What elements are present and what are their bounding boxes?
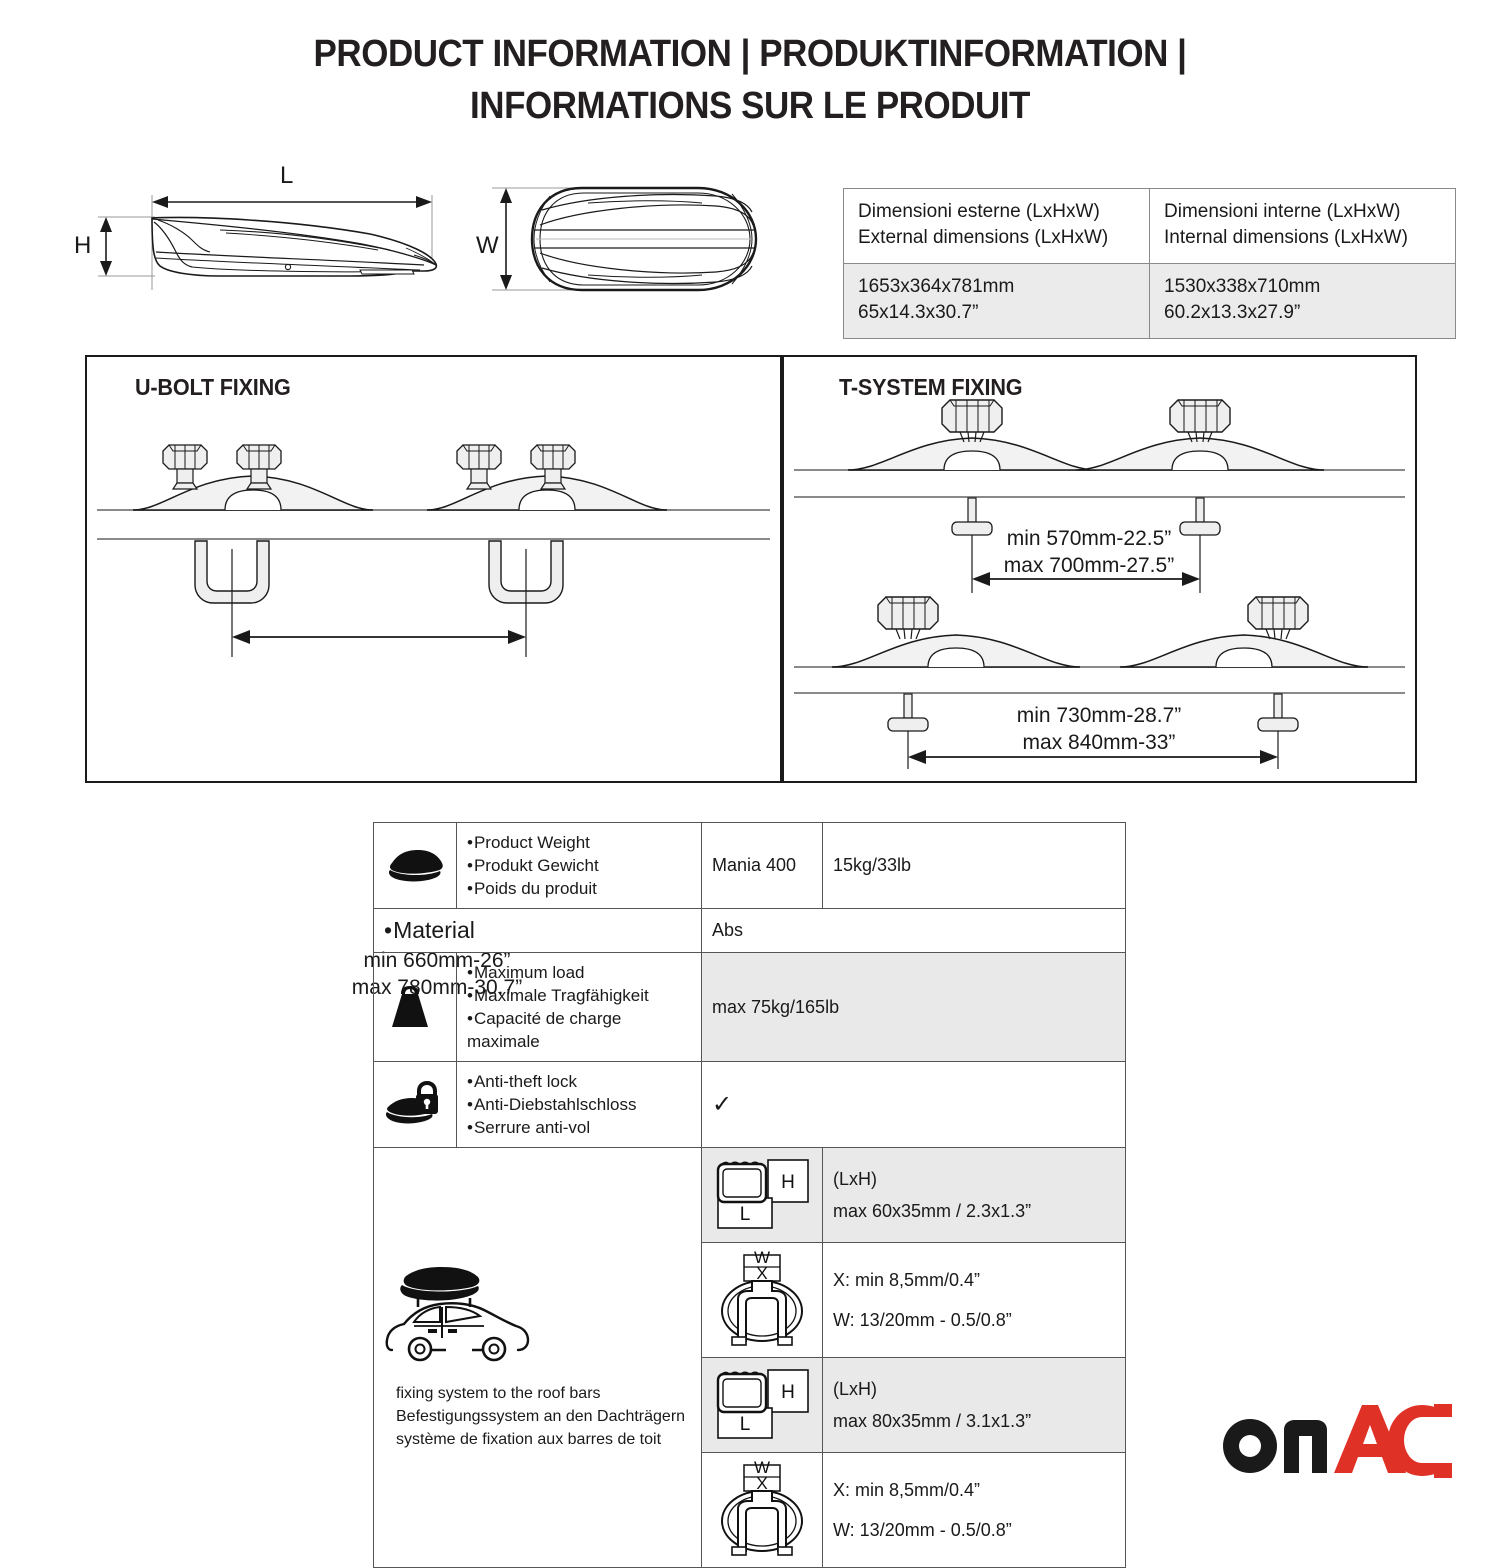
- bar-spec-4-line2: W: 13/20mm - 0.5/0.8”: [833, 1510, 1115, 1550]
- cargo-box-icon: [384, 846, 446, 886]
- material-label: Material: [374, 909, 702, 953]
- spec-row-material: Material Abs: [374, 909, 1126, 953]
- cargo-box-icon-cell: [374, 823, 457, 909]
- bar-spec-3-line2: max 80x35mm / 3.1x1.3”: [833, 1405, 1115, 1437]
- tsystem-lower-max: max 840mm-33”: [929, 729, 1269, 756]
- cargo-box-top-view: W: [470, 170, 800, 320]
- product-weight-value: 15kg/33lb: [823, 823, 1126, 909]
- length-label: L: [280, 162, 293, 190]
- bar-spec-1-line2: max 60x35mm / 2.3x1.3”: [833, 1195, 1115, 1227]
- tsystem-upper-min: min 570mm-22.5”: [924, 525, 1254, 552]
- internal-dimensions-mm: 1530x338x710mm: [1164, 274, 1441, 300]
- page-title-line-1: PRODUCT INFORMATION | PRODUKTINFORMATION…: [60, 28, 1440, 80]
- anti-theft-label-en: Anti-theft lock: [467, 1070, 691, 1093]
- clamp-icon: W X: [712, 1251, 812, 1349]
- fixing-system-caption: fixing system to the roof bars Befestigu…: [384, 1374, 691, 1451]
- max-load-label-en: Maximum load: [467, 961, 691, 984]
- ubolt-panel-title: U-BOLT FIXING: [135, 374, 291, 401]
- external-dimensions-in: 65x14.3x30.7”: [858, 300, 1135, 326]
- cargo-box-side-view: L H: [80, 170, 460, 320]
- product-weight-label-en: Product Weight: [467, 831, 691, 854]
- svg-text:H: H: [781, 1172, 795, 1193]
- internal-dimensions-in: 60.2x13.3x27.9”: [1164, 300, 1441, 326]
- bar-spec-4-line1: X: min 8,5mm/0.4”: [833, 1470, 1115, 1510]
- fixing-caption-de: Befestigungssystem an den Dachträgern: [396, 1405, 691, 1428]
- external-dimensions-value: 1653x364x781mm 65x14.3x30.7”: [844, 264, 1150, 339]
- dimensions-value-row: 1653x364x781mm 65x14.3x30.7” 1530x338x71…: [844, 264, 1456, 339]
- product-views: L H: [80, 170, 800, 330]
- bar-spec-3-line1: (LxH): [833, 1373, 1115, 1405]
- dimensions-table: Dimensioni esterne (LxHxW) External dime…: [843, 188, 1456, 339]
- tsystem-upper-max: max 700mm-27.5”: [924, 552, 1254, 579]
- external-dimensions-it: Dimensioni esterne (LxHxW): [858, 199, 1135, 225]
- internal-dimensions-en: Internal dimensions (LxHxW): [1164, 225, 1441, 251]
- product-weight-labels: Product Weight Produkt Gewicht Poids du …: [457, 823, 702, 909]
- external-dimensions-mm: 1653x364x781mm: [858, 274, 1135, 300]
- bar-profile-icon-cell-1: H L: [702, 1148, 823, 1243]
- bar-spec-2-line1: X: min 8,5mm/0.4”: [833, 1260, 1115, 1300]
- page-title-line-2: INFORMATIONS SUR LE PRODUIT: [60, 80, 1440, 132]
- anti-theft-lock-labels: Anti-theft lock Anti-Diebstahlschloss Se…: [457, 1062, 702, 1148]
- internal-dimensions-value: 1530x338x710mm 60.2x13.3x27.9”: [1150, 264, 1456, 339]
- clamp-icon: W X: [712, 1461, 812, 1559]
- spec-row-product-weight: Product Weight Produkt Gewicht Poids du …: [374, 823, 1126, 909]
- fixing-system-cell: fixing system to the roof bars Befestigu…: [374, 1148, 702, 1568]
- tsystem-panel-title: T-SYSTEM FIXING: [839, 374, 1022, 401]
- clamp-icon-cell-1: W X: [702, 1243, 823, 1358]
- external-dimensions-en: External dimensions (LxHxW): [858, 225, 1135, 251]
- dimensions-header-row: Dimensioni esterne (LxHxW) External dime…: [844, 189, 1456, 264]
- tsystem-fixing-panel: T-SYSTEM FIXING: [782, 355, 1417, 783]
- bar-spec-text-1: (LxH) max 60x35mm / 2.3x1.3”: [823, 1148, 1126, 1243]
- page-title: PRODUCT INFORMATION | PRODUKTINFORMATION…: [0, 28, 1500, 132]
- clamp-icon-cell-2: W X: [702, 1453, 823, 1568]
- svg-text:L: L: [740, 1204, 751, 1225]
- omac-logo: [1216, 1400, 1454, 1478]
- bar-spec-2-line2: W: 13/20mm - 0.5/0.8”: [833, 1300, 1115, 1340]
- bar-spec-text-3: (LxH) max 80x35mm / 3.1x1.3”: [823, 1358, 1126, 1453]
- bar-profile-icon-cell-2: H L: [702, 1358, 823, 1453]
- lock-icon-cell: [374, 1062, 457, 1148]
- tsystem-lower-caption: min 730mm-28.7” max 840mm-33”: [929, 702, 1269, 756]
- svg-text:H: H: [781, 1382, 795, 1403]
- material-value: Abs: [702, 909, 1126, 953]
- internal-dimensions-it: Dimensioni interne (LxHxW): [1164, 199, 1441, 225]
- ubolt-diagram: [87, 357, 780, 781]
- product-weight-label-de: Produkt Gewicht: [467, 854, 691, 877]
- lock-icon: [384, 1081, 446, 1129]
- spec-row-anti-theft-lock: Anti-theft lock Anti-Diebstahlschloss Se…: [374, 1062, 1126, 1148]
- internal-dimensions-header: Dimensioni interne (LxHxW) Internal dime…: [1150, 189, 1456, 264]
- anti-theft-label-de: Anti-Diebstahlschloss: [467, 1093, 691, 1116]
- specifications-table: Product Weight Produkt Gewicht Poids du …: [373, 822, 1126, 1568]
- max-load-labels: Maximum load Maximale Tragfähigkeit Capa…: [457, 953, 702, 1062]
- height-label: H: [74, 232, 91, 260]
- bar-spec-text-2: X: min 8,5mm/0.4” W: 13/20mm - 0.5/0.8”: [823, 1243, 1126, 1358]
- bar-profile-icon: H L: [712, 1156, 812, 1234]
- spec-row-fixing-1: fixing system to the roof bars Befestigu…: [374, 1148, 1126, 1243]
- weight-icon: [384, 983, 436, 1031]
- anti-theft-label-fr: Serrure anti-vol: [467, 1116, 691, 1139]
- weight-icon-cell: [374, 953, 457, 1062]
- product-weight-label-fr: Poids du produit: [467, 877, 691, 900]
- tsystem-upper-caption: min 570mm-22.5” max 700mm-27.5”: [924, 525, 1254, 579]
- max-load-label-de: Maximale Tragfähigkeit: [467, 984, 691, 1007]
- svg-text:L: L: [740, 1414, 751, 1435]
- bar-spec-1-line1: (LxH): [833, 1163, 1115, 1195]
- max-load-label-fr: Capacité de charge maximale: [467, 1007, 691, 1053]
- product-model-value: Mania 400: [702, 823, 823, 909]
- bar-spec-text-4: X: min 8,5mm/0.4” W: 13/20mm - 0.5/0.8”: [823, 1453, 1126, 1568]
- max-load-value: max 75kg/165lb: [702, 953, 1126, 1062]
- car-with-box-icon: [384, 1264, 534, 1374]
- width-label: W: [476, 232, 499, 260]
- external-dimensions-header: Dimensioni esterne (LxHxW) External dime…: [844, 189, 1150, 264]
- spec-row-max-load: Maximum load Maximale Tragfähigkeit Capa…: [374, 953, 1126, 1062]
- fixing-caption-fr: système de fixation aux barres de toit: [396, 1428, 691, 1451]
- anti-theft-check: ✓: [702, 1062, 1126, 1148]
- ubolt-fixing-panel: U-BOLT FIXING: [85, 355, 782, 783]
- bar-profile-icon: H L: [712, 1366, 812, 1444]
- tsystem-lower-min: min 730mm-28.7”: [929, 702, 1269, 729]
- fixing-caption-en: fixing system to the roof bars: [396, 1382, 691, 1405]
